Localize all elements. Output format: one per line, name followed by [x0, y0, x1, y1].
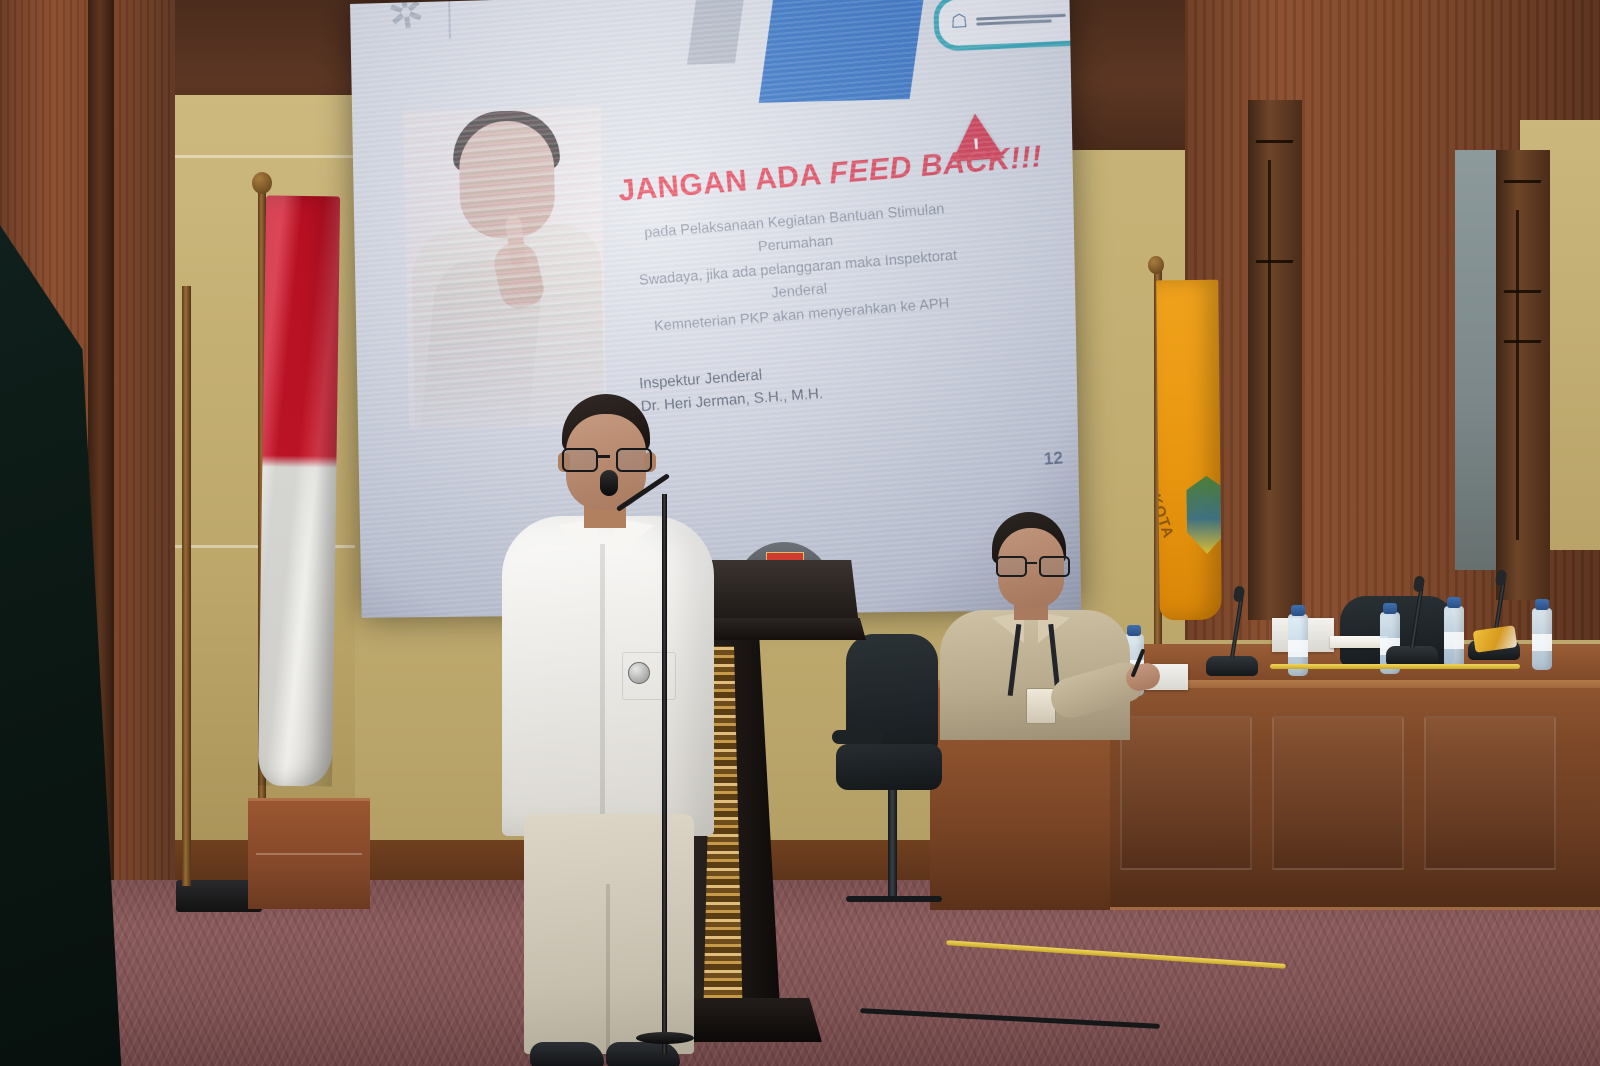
- bottle-cap: [1447, 597, 1461, 608]
- ministry-badge-text: [976, 14, 1066, 26]
- seated-official: [940, 512, 1130, 712]
- flagpole-finial: [1148, 256, 1164, 274]
- glasses-bridge: [1025, 562, 1037, 564]
- flagpole-finial: [252, 172, 272, 194]
- slide-body-text: pada Pelaksanaan Kegiatan Bantuan Stimul…: [614, 196, 984, 342]
- glasses-lens: [616, 448, 652, 472]
- bottle-cap: [1535, 599, 1549, 610]
- table-panel: [1272, 716, 1404, 870]
- chair-armrest: [832, 730, 884, 744]
- chevron-carving: [1504, 290, 1542, 293]
- wooden-cabinet: [248, 798, 370, 909]
- bottle-cap: [1383, 603, 1397, 614]
- chevron-carving: [1504, 340, 1542, 343]
- carved-column: [1496, 150, 1550, 600]
- chair-base: [846, 896, 942, 902]
- carved-column: [1248, 100, 1302, 620]
- flag-fold-shading: [258, 196, 340, 787]
- slide-logo-mark: ✲: [368, 0, 445, 47]
- bottle-cap: [1291, 605, 1305, 616]
- table-panel: [1120, 716, 1252, 870]
- eyeglasses-icon: [562, 448, 652, 468]
- photo-fade: [403, 107, 607, 429]
- glasses-bridge: [596, 455, 610, 458]
- chevron-carving: [1256, 260, 1294, 263]
- seminar-room-photograph: ✲ ☖ ! JANGAN ADA FEED BACK!!! pada Pelak…: [0, 0, 1600, 1066]
- speaker-trousers: [524, 814, 694, 1054]
- speaker-shirt: [502, 516, 714, 836]
- water-bottle[interactable]: [1532, 608, 1552, 670]
- bottle-label: [1288, 640, 1308, 657]
- speaker-shoe: [606, 1042, 680, 1066]
- glasses-lens: [562, 448, 598, 472]
- column-groove: [1268, 160, 1271, 490]
- flag-stand-pole: [182, 286, 191, 886]
- ministry-logo-badge: ☖: [933, 0, 1081, 52]
- chevron-carving: [1256, 140, 1294, 143]
- chevron-carving: [1504, 180, 1542, 183]
- eyeglasses-icon: [996, 556, 1070, 573]
- slide-page-number: 12: [1043, 448, 1064, 469]
- table-panel: [1424, 716, 1556, 870]
- desk-microphone[interactable]: [1206, 656, 1258, 676]
- city-flag: KOTA: [1156, 280, 1222, 621]
- microphone-stand-base: [636, 1032, 694, 1044]
- speaker-shoe: [530, 1042, 604, 1066]
- glasses-lens: [996, 556, 1027, 577]
- chair-seat: [836, 744, 942, 790]
- water-bottle[interactable]: [1444, 606, 1464, 668]
- cabinet-seam: [256, 853, 362, 855]
- indonesian-flag: [258, 196, 340, 787]
- badge-pin: [628, 662, 650, 684]
- office-chair[interactable]: [836, 634, 946, 824]
- slide-divider: [448, 0, 451, 39]
- slide-blue-shape: [759, 0, 934, 103]
- column-groove: [1516, 210, 1519, 540]
- shirt-placket: [600, 544, 605, 814]
- desk-microphone[interactable]: [1386, 646, 1438, 666]
- bottle-label: [1532, 634, 1552, 651]
- bottle-label: [1444, 632, 1464, 649]
- slide-headline-part2: FEED BACK!!!: [828, 140, 1043, 191]
- yellow-cable: [1270, 664, 1520, 669]
- glasses-lens: [1039, 556, 1070, 577]
- ministry-emblem-icon: ☖: [948, 9, 971, 36]
- slide-headline-part1: JANGAN ADA: [617, 157, 831, 207]
- slide-official-photo: [403, 107, 607, 429]
- microphone-head: [600, 470, 618, 496]
- wall-trim-line: [150, 155, 355, 158]
- microphone-stand[interactable]: [662, 494, 667, 1054]
- city-crest-icon: [1186, 476, 1222, 554]
- slide-gray-shape: [687, 0, 753, 65]
- trouser-seam: [606, 884, 610, 1054]
- chair-post: [888, 790, 897, 898]
